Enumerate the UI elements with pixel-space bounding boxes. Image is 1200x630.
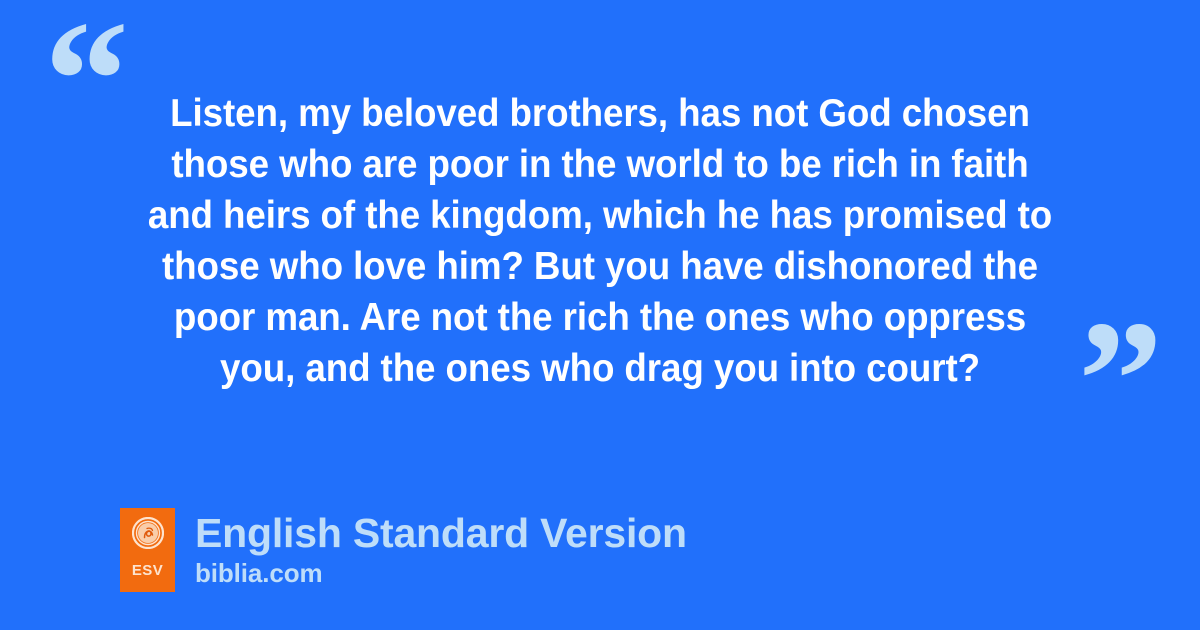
- quote-line: those who love him? But you have dishono…: [123, 241, 1078, 292]
- quote-line: and heirs of the kingdom, which he has p…: [123, 190, 1078, 241]
- quote-line: poor man. Are not the rich the ones who …: [123, 292, 1078, 343]
- esv-badge-label: ESV: [132, 563, 163, 578]
- bible-version-name: English Standard Version: [195, 510, 687, 556]
- quote-text-block: Listen, my beloved brothers, has not God…: [100, 88, 1100, 394]
- quote-line: Listen, my beloved brothers, has not God…: [123, 88, 1078, 139]
- attribution-footer: ESV English Standard Version biblia.com: [120, 508, 687, 592]
- closing-quote-icon: ”: [1078, 295, 1163, 465]
- quote-line: you, and the ones who drag you into cour…: [123, 343, 1078, 394]
- quote-line: those who are poor in the world to be ri…: [123, 139, 1078, 190]
- esv-seal-icon: [132, 517, 164, 554]
- footer-text-group: English Standard Version biblia.com: [195, 508, 687, 588]
- esv-logo-badge: ESV: [120, 508, 175, 592]
- site-url-label: biblia.com: [195, 558, 687, 588]
- quote-card: “ Listen, my beloved brothers, has not G…: [0, 0, 1200, 630]
